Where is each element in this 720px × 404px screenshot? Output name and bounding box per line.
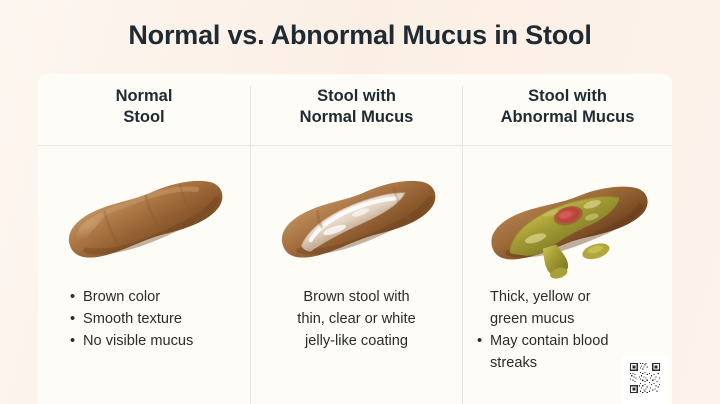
description-line: green mucus	[477, 308, 664, 330]
column-header-line2: Stool	[123, 108, 164, 126]
column-header-normal-stool: Normal Stool	[38, 86, 250, 128]
description-line: thin, clear or white	[265, 308, 448, 330]
description-line: Thick, yellow or	[477, 286, 664, 308]
list-item: Smooth texture	[70, 308, 240, 330]
column-header-stool-with-abnormal-mucus: Stool with Abnormal Mucus	[463, 86, 672, 128]
description-line: Brown stool with	[265, 286, 448, 308]
stool-with-normal-mucus-illustration	[251, 154, 462, 284]
list-item: No visible mucus	[70, 330, 240, 352]
column-header-line2: Abnormal Mucus	[501, 108, 635, 126]
list-item: Brown color	[70, 286, 240, 308]
normal-mucus-description: Brown stool with thin, clear or white je…	[251, 286, 462, 352]
column-normal-stool: Normal Stool	[38, 74, 250, 404]
column-header-stool-with-normal-mucus: Stool with Normal Mucus	[251, 86, 462, 128]
column-header-line1: Stool with	[528, 87, 607, 105]
page-title: Normal vs. Abnormal Mucus in Stool	[0, 18, 720, 52]
comparison-table-card: Normal Stool	[38, 74, 672, 404]
stool-with-abnormal-mucus-illustration	[463, 154, 672, 284]
column-stool-with-abnormal-mucus: Stool with Abnormal Mucus	[463, 74, 672, 404]
infographic-page: Normal vs. Abnormal Mucus in Stool Norma…	[0, 0, 720, 404]
column-header-line1: Stool with	[317, 87, 396, 105]
column-stool-with-normal-mucus: Stool with Normal Mucus	[251, 74, 462, 404]
column-header-line2: Normal Mucus	[300, 108, 414, 126]
list-item: May contain blood	[477, 330, 664, 352]
normal-stool-description: Brown color Smooth texture No visible mu…	[38, 286, 250, 352]
description-line: jelly-like coating	[265, 330, 448, 352]
qr-code[interactable]	[629, 362, 661, 394]
normal-stool-illustration	[38, 154, 250, 284]
column-header-line1: Normal	[116, 87, 173, 105]
